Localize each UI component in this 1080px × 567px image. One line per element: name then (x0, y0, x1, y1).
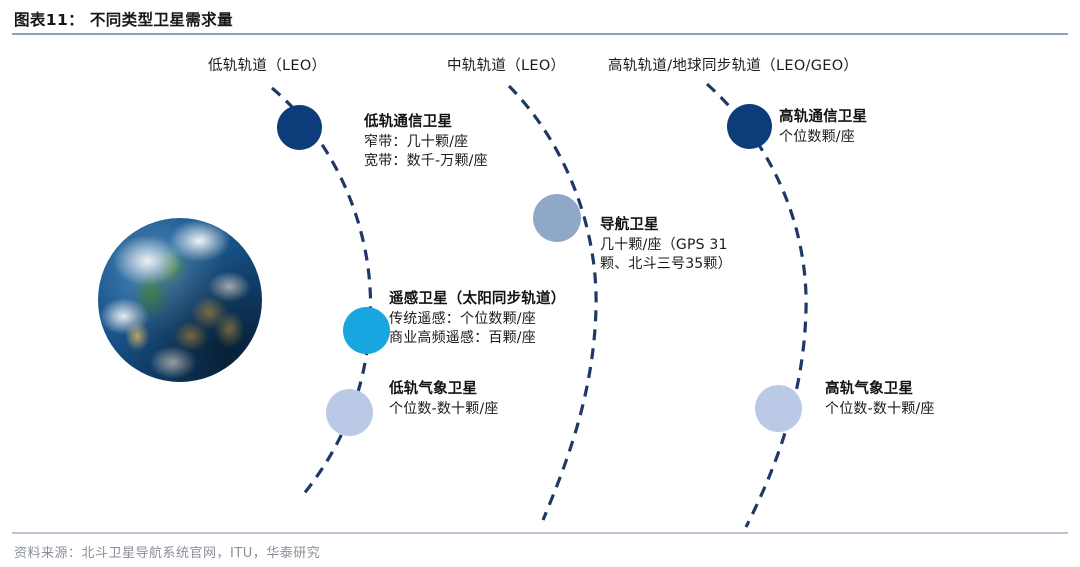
earth-shading (98, 218, 262, 382)
satellite-line-leo-communication-1: 窄带：几十颗/座 (364, 133, 488, 153)
orbit-arc-geo (707, 84, 806, 527)
satellite-dot-geo-communication[interactable] (727, 104, 772, 149)
figure-container: 图表11： 不同类型卫星需求量 低轨轨道（LEO） 中轨轨道（LEO） 高轨轨道… (0, 0, 1080, 567)
satellite-line-navigation-1: 几十颗/座（GPS 31 (600, 236, 732, 256)
satellite-title-navigation: 导航卫星 (600, 215, 732, 236)
satellite-title-leo-weather: 低轨气象卫星 (389, 379, 499, 400)
satellite-dot-geo-weather[interactable] (755, 385, 802, 432)
satellite-line-geo-weather-1: 个位数-数十颗/座 (825, 400, 935, 420)
satellite-line-navigation-2: 颗、北斗三号35颗） (600, 255, 732, 275)
satellite-dot-remote-sensing[interactable] (343, 307, 390, 354)
satellite-line-leo-weather-1: 个位数-数十颗/座 (389, 400, 499, 420)
satellite-label-remote-sensing: 遥感卫星（太阳同步轨道） 传统遥感：个位数颗/座 商业高频遥感：百颗/座 (389, 289, 565, 349)
satellite-title-remote-sensing: 遥感卫星（太阳同步轨道） (389, 289, 565, 310)
earth-globe (98, 218, 262, 382)
source-note: 资料来源：北斗卫星导航系统官网，ITU，华泰研究 (14, 542, 320, 561)
satellite-line-leo-communication-2: 宽带：数千-万颗/座 (364, 152, 488, 172)
satellite-title-geo-weather: 高轨气象卫星 (825, 379, 935, 400)
satellite-label-navigation: 导航卫星 几十颗/座（GPS 31 颗、北斗三号35颗） (600, 215, 732, 275)
orbit-caption-geo: 高轨轨道/地球同步轨道（LEO/GEO） (608, 54, 858, 75)
satellite-label-geo-weather: 高轨气象卫星 个位数-数十颗/座 (825, 379, 935, 419)
satellite-label-geo-communication: 高轨通信卫星 个位数颗/座 (779, 107, 867, 147)
satellite-title-geo-communication: 高轨通信卫星 (779, 107, 867, 128)
satellite-label-leo-weather: 低轨气象卫星 个位数-数十颗/座 (389, 379, 499, 419)
satellite-title-leo-communication: 低轨通信卫星 (364, 112, 488, 133)
footer-divider (12, 532, 1068, 534)
orbit-caption-leo: 低轨轨道（LEO） (208, 54, 326, 75)
orbit-caption-meo: 中轨轨道（LEO） (447, 54, 565, 75)
satellite-label-leo-communication: 低轨通信卫星 窄带：几十颗/座 宽带：数千-万颗/座 (364, 112, 488, 172)
satellite-line-geo-communication-1: 个位数颗/座 (779, 128, 867, 148)
satellite-dot-leo-communication[interactable] (277, 105, 322, 150)
satellite-line-remote-sensing-2: 商业高频遥感：百颗/座 (389, 329, 565, 349)
satellite-dot-navigation[interactable] (533, 194, 581, 242)
satellite-line-remote-sensing-1: 传统遥感：个位数颗/座 (389, 310, 565, 330)
satellite-dot-leo-weather[interactable] (326, 389, 373, 436)
